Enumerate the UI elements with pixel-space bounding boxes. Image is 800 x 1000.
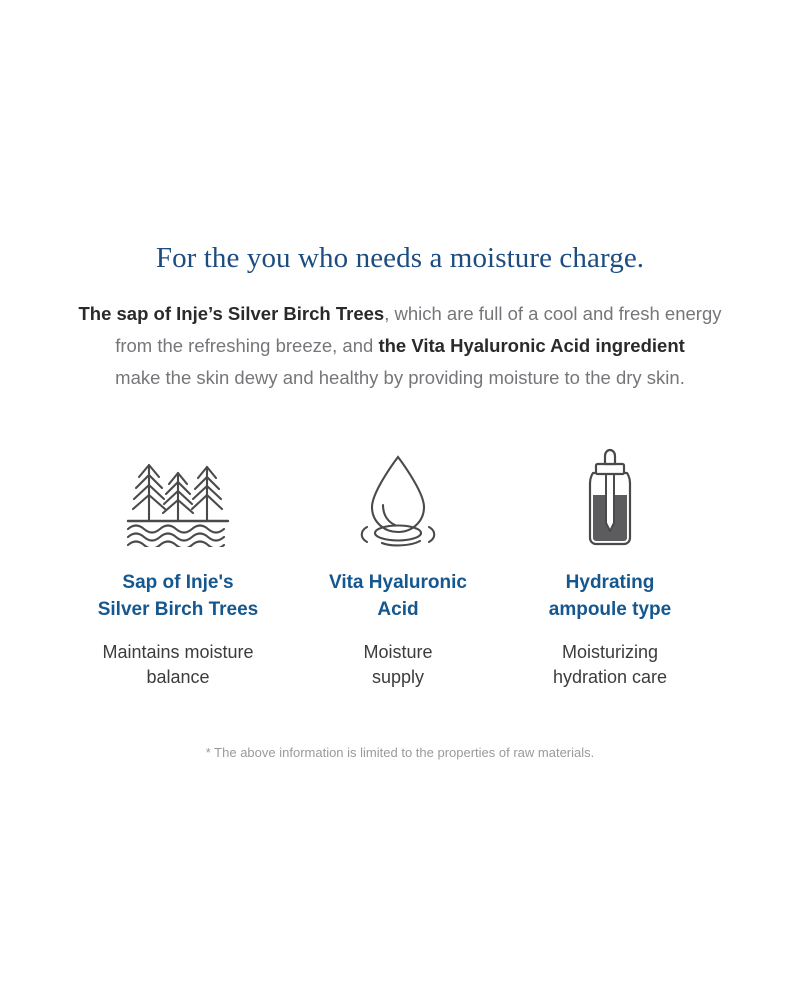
dropper-bottle-icon — [577, 447, 643, 547]
intro-paragraph: The sap of Inje’s Silver Birch Trees, wh… — [40, 298, 760, 394]
feature-title-line-1: Vita Hyaluronic — [298, 569, 498, 596]
feature-title: Hydrating ampoule type — [500, 569, 720, 623]
intro-line-2: from the refreshing breeze, and the Vita… — [40, 330, 760, 362]
feature-desc-line-1: Moisture — [298, 640, 498, 665]
footnote-disclaimer: * The above information is limited to th… — [0, 744, 800, 762]
ingredient-info-page: For the you who needs a moisture charge.… — [0, 0, 800, 1000]
intro-line-1-rest: , which are full of a cool and fresh ene… — [384, 303, 721, 324]
feature-item-vita-hyaluronic-acid: Vita Hyaluronic Acid Moisture supply — [298, 447, 498, 690]
feature-desc-line-1: Maintains moisture — [58, 640, 298, 665]
bottle-cap-collar — [596, 464, 624, 474]
feature-description: Moisture supply — [298, 640, 498, 690]
intro-line-1: The sap of Inje’s Silver Birch Trees, wh… — [40, 298, 760, 330]
feature-description: Moisturizing hydration care — [500, 640, 720, 690]
intro-bold-vita: the Vita Hyaluronic Acid ingredient — [378, 335, 684, 356]
feature-icon-wrap — [58, 447, 298, 547]
feature-item-hydrating-ampoule: Hydrating ampoule type Moisturizing hydr… — [500, 447, 720, 690]
dropper-bulb — [605, 450, 615, 464]
forest-trees-water-icon — [122, 455, 234, 547]
feature-icon-wrap — [298, 447, 498, 547]
feature-title-line-2: Acid — [298, 596, 498, 623]
feature-title: Sap of Inje's Silver Birch Trees — [58, 569, 298, 623]
feature-item-sap-of-inje: Sap of Inje's Silver Birch Trees Maintai… — [58, 447, 298, 690]
intro-line-2-pre: from the refreshing breeze, and — [115, 335, 378, 356]
feature-desc-line-2: supply — [298, 665, 498, 690]
pipette-tube — [606, 473, 614, 531]
intro-line-3: make the skin dewy and healthy by provid… — [40, 362, 760, 394]
feature-icon-wrap — [500, 447, 720, 547]
feature-description: Maintains moisture balance — [58, 640, 298, 690]
feature-desc-line-2: balance — [58, 665, 298, 690]
feature-title-line-2: ampoule type — [500, 596, 720, 623]
feature-title-line-1: Hydrating — [500, 569, 720, 596]
water-droplet-ripple-icon — [354, 453, 442, 547]
feature-columns: Sap of Inje's Silver Birch Trees Maintai… — [0, 447, 800, 697]
intro-bold-sap: The sap of Inje’s Silver Birch Trees — [78, 303, 384, 324]
feature-desc-line-2: hydration care — [500, 665, 720, 690]
feature-title-line-2: Silver Birch Trees — [58, 596, 298, 623]
feature-title-line-1: Sap of Inje's — [58, 569, 298, 596]
feature-desc-line-1: Moisturizing — [500, 640, 720, 665]
page-headline: For the you who needs a moisture charge. — [0, 240, 800, 276]
feature-title: Vita Hyaluronic Acid — [298, 569, 498, 623]
